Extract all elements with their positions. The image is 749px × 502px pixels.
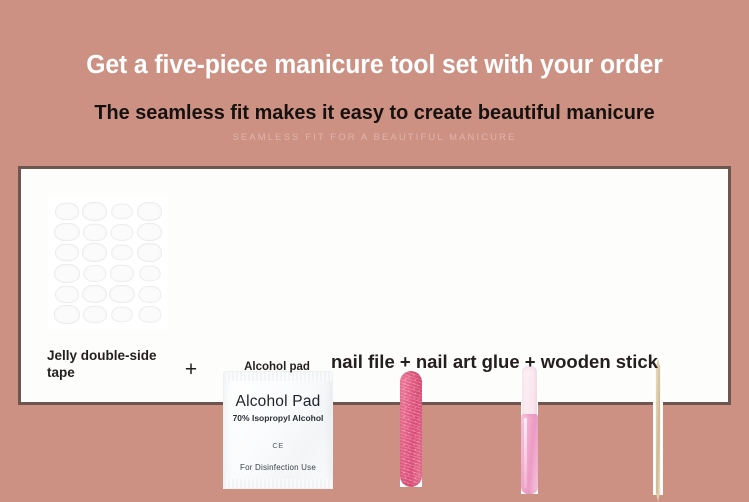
tape-tab [138, 286, 160, 302]
tape-tab [111, 204, 132, 219]
tape-tab [82, 243, 108, 262]
tape-tab [54, 305, 80, 324]
tape-tab [111, 307, 132, 322]
tape-tab [54, 264, 80, 283]
tape-tab [55, 244, 78, 261]
tape-tab [55, 285, 78, 302]
tape-tab [109, 285, 135, 304]
tape-tab [82, 202, 108, 221]
tape-tab [138, 306, 160, 322]
tape-tab [83, 306, 106, 323]
alcohol-pad-usage: For Disinfection Use [224, 464, 332, 472]
tape-tab [54, 223, 80, 242]
tape-tab [82, 285, 108, 304]
caption-jelly-tape: Jelly double-side tape [47, 348, 169, 382]
glue-tube-body [521, 414, 538, 494]
jelly-tape-sheet-image [48, 197, 168, 329]
tape-tab [110, 265, 133, 282]
micro-tagline: SEAMLESS FIT FOR A BEAUTIFUL MANICURE [0, 133, 749, 143]
alcohol-pad-subtitle: 70% Isopropyl Alcohol [224, 414, 332, 423]
tape-tab [137, 223, 163, 242]
product-set-card: Alcohol Pad 70% Isopropyl Alcohol CE For… [18, 166, 731, 405]
glue-highlight [524, 418, 527, 488]
tape-tab [83, 223, 106, 240]
tape-tab [111, 245, 132, 260]
ce-mark: CE [224, 442, 332, 450]
caption-remaining-tools: nail file + nail art glue + wooden stick [331, 350, 711, 373]
product-strip: Alcohol Pad 70% Isopropyl Alcohol CE For… [21, 169, 728, 337]
tape-tab [137, 202, 163, 221]
package-crimp-bottom [224, 479, 332, 488]
plus-separator: + [178, 357, 204, 383]
caption-alcohol-pad: Alcohol pad [217, 360, 337, 374]
tape-tab-grid [54, 202, 162, 324]
tape-tab [111, 224, 133, 240]
caption-row: Jelly double-side tape + Alcohol pad nai… [21, 343, 728, 405]
tape-tab [83, 265, 105, 281]
subtitle: The seamless fit makes it easy to create… [11, 103, 738, 124]
stick-tip-bottom [656, 493, 660, 502]
tape-tab [137, 243, 163, 262]
page-title: Get a five-piece manicure tool set with … [11, 53, 738, 79]
tape-tab [139, 266, 160, 281]
promo-banner: Get a five-piece manicure tool set with … [0, 0, 749, 431]
tape-tab [55, 203, 78, 220]
